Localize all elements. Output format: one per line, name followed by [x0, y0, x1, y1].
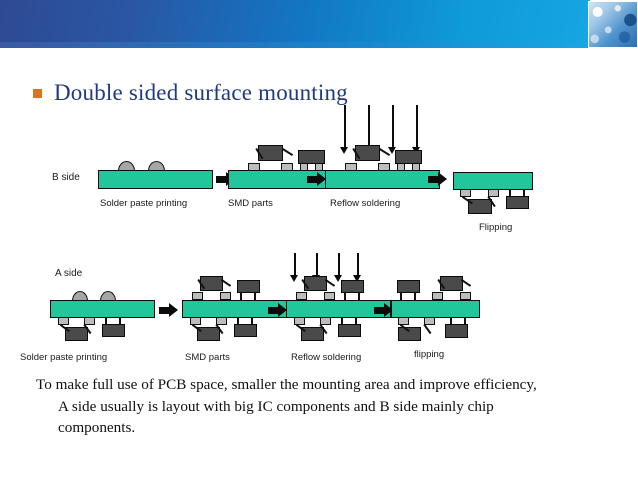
component-leg — [341, 317, 343, 325]
ic-component-body — [440, 276, 463, 291]
ic-component-body — [355, 145, 380, 161]
ic-component-body — [197, 327, 220, 341]
faint-background-text — [40, 447, 600, 475]
component-leg — [358, 292, 360, 300]
header-photo-thumbnail — [588, 1, 638, 48]
body-line-2: A side usually is layout with big IC com… — [36, 396, 602, 418]
solder-pad — [58, 317, 69, 325]
gull-wing-lead — [302, 279, 309, 289]
component-leg — [254, 292, 256, 300]
solder-pad — [84, 317, 95, 325]
gull-wing-lead — [84, 324, 92, 334]
page-title: Double sided surface mounting — [54, 80, 348, 106]
solder-pad — [216, 317, 227, 325]
gull-wing-lead — [353, 148, 361, 159]
gull-wing-lead — [198, 279, 205, 289]
solder-pad — [424, 317, 435, 325]
solder-pad — [248, 163, 260, 171]
pcb-board — [50, 300, 155, 318]
row2-step1-label: Solder paste printing — [20, 352, 107, 363]
component-leg — [344, 292, 346, 300]
solder-pad — [320, 317, 331, 325]
ic-component-body — [65, 327, 88, 341]
pcb-board — [286, 300, 391, 318]
row1-step1-label: Solder paste printing — [100, 198, 187, 209]
row1-step4-label: Flipping — [479, 222, 512, 233]
pcb-board — [325, 170, 440, 189]
gull-wing-lead — [379, 148, 390, 156]
pcb-board — [98, 170, 213, 189]
solder-paste-dome — [118, 161, 135, 171]
solder-paste-dome — [100, 291, 116, 301]
gull-wing-lead — [320, 324, 328, 334]
solder-pad — [345, 163, 357, 171]
solder-pad — [324, 292, 335, 300]
solder-pad — [412, 163, 420, 171]
component-leg — [237, 317, 239, 325]
solder-pad — [300, 163, 308, 171]
bullet-marker-icon — [33, 89, 42, 98]
ic-component-body — [200, 276, 223, 291]
solder-pad — [190, 317, 201, 325]
solder-pad — [220, 292, 231, 300]
header-banner-edge — [0, 42, 590, 48]
gull-wing-lead — [296, 324, 306, 332]
solder-pad — [315, 163, 323, 171]
ic-component-body — [398, 327, 421, 341]
solder-pad — [488, 189, 499, 197]
chip-component-body — [234, 324, 257, 337]
ic-component-body — [304, 276, 327, 291]
pcb-board — [391, 300, 480, 318]
component-leg — [355, 317, 357, 325]
ic-component-body — [301, 327, 324, 341]
solder-pad — [192, 292, 203, 300]
pcb-board — [453, 172, 533, 190]
row-label-b-side: B side — [52, 172, 80, 183]
gull-wing-lead — [216, 324, 224, 334]
gull-wing-lead — [221, 279, 231, 286]
solder-pad — [397, 163, 405, 171]
gull-wing-lead — [488, 196, 496, 207]
chip-component-body — [395, 150, 422, 164]
gull-wing-lead — [438, 279, 445, 289]
component-leg — [119, 317, 121, 325]
gull-wing-lead — [424, 324, 432, 334]
header-banner — [0, 0, 590, 48]
body-line-1: To make full use of PCB space, smaller t… — [36, 376, 537, 393]
gull-wing-lead — [325, 279, 335, 286]
row2-step3-label: Reflow soldering — [291, 352, 361, 363]
solder-pad — [460, 189, 471, 197]
component-leg — [450, 317, 452, 325]
solder-pad — [296, 292, 307, 300]
gull-wing-lead — [282, 148, 293, 156]
gull-wing-lead — [192, 324, 202, 332]
chip-component-body — [397, 280, 420, 293]
chip-component-body — [506, 196, 529, 209]
component-leg — [509, 189, 511, 197]
gull-wing-lead — [400, 324, 410, 332]
component-leg — [523, 189, 525, 197]
slide-title-row: Double sided surface mounting — [33, 80, 348, 106]
chip-component-body — [341, 280, 364, 293]
pcb-board — [182, 300, 287, 318]
solder-pad — [281, 163, 293, 171]
ic-component-body — [258, 145, 283, 161]
row2-step2-label: SMD parts — [185, 352, 230, 363]
chip-component-body — [237, 280, 260, 293]
pcb-board — [228, 170, 343, 189]
solder-pad — [460, 292, 471, 300]
ic-component-body — [468, 199, 492, 214]
solder-pad — [432, 292, 443, 300]
component-leg — [105, 317, 107, 325]
solder-pad — [398, 317, 409, 325]
row1-step3-label: Reflow soldering — [330, 198, 400, 209]
component-leg — [240, 292, 242, 300]
solder-pad — [378, 163, 390, 171]
gull-wing-lead — [256, 148, 264, 159]
row-label-a-side: A side — [55, 268, 82, 279]
body-line-3: components. — [36, 417, 602, 439]
chip-component-body — [338, 324, 361, 337]
row2-step4-label: flipping — [414, 349, 444, 360]
solder-paste-dome — [72, 291, 88, 301]
gull-wing-lead — [461, 279, 471, 286]
body-paragraph: To make full use of PCB space, smaller t… — [36, 374, 602, 439]
gull-wing-lead — [462, 196, 473, 204]
chip-component-body — [445, 324, 468, 338]
component-leg — [464, 317, 466, 325]
chip-component-body — [102, 324, 125, 337]
solder-pad — [294, 317, 305, 325]
component-leg — [400, 292, 402, 300]
gull-wing-lead — [60, 324, 70, 332]
solder-paste-dome — [148, 161, 165, 171]
component-leg — [414, 292, 416, 300]
chip-component-body — [298, 150, 325, 164]
row1-step2-label: SMD parts — [228, 198, 273, 209]
component-leg — [251, 317, 253, 325]
